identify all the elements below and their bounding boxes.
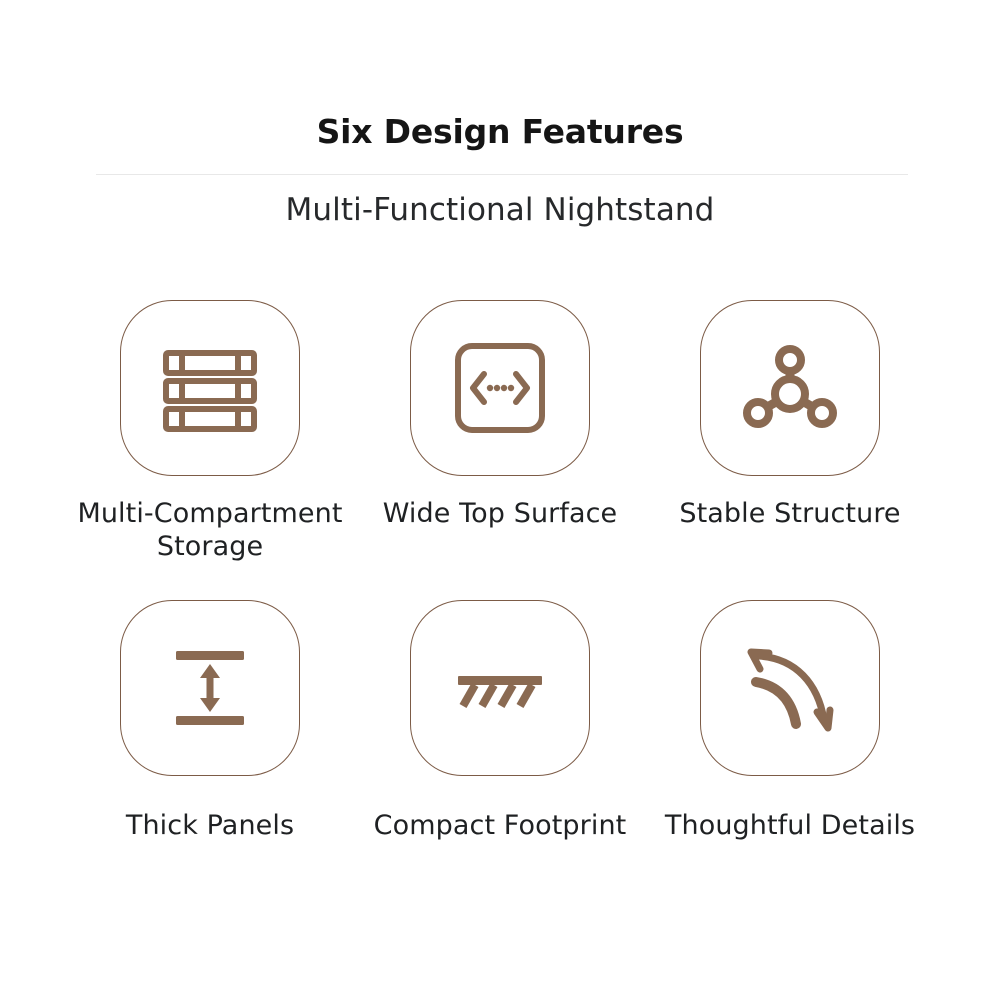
title-divider xyxy=(96,174,908,175)
feature-stable-structure: Stable Structure xyxy=(645,300,935,564)
feature-icon-card xyxy=(700,600,880,776)
feature-label: Multi-Compartment Storage xyxy=(60,498,360,564)
feature-thick-panels: Thick Panels xyxy=(65,600,355,843)
infographic-page: Six Design Features Multi-Functional Nig… xyxy=(0,0,1000,1000)
feature-icon-card xyxy=(700,300,880,476)
feature-label: Stable Structure xyxy=(640,498,940,531)
feature-thoughtful-details: Thoughtful Details xyxy=(645,600,935,843)
features-row-1: Multi-Compartment Storage xyxy=(0,300,1000,564)
feature-hatched-ground: Compact Footprint xyxy=(355,600,645,843)
feature-icon-card xyxy=(120,300,300,476)
feature-label: Thick Panels xyxy=(60,810,360,843)
stacked-compartments-icon xyxy=(158,336,262,440)
page-title: Six Design Features xyxy=(0,112,1000,151)
feature-icon-card xyxy=(120,600,300,776)
width-arrows-icon xyxy=(448,336,552,440)
curved-arrows-icon xyxy=(738,636,842,740)
hatched-ground-icon xyxy=(448,636,552,740)
page-subtitle: Multi-Functional Nightstand xyxy=(0,192,1000,228)
features-row-2: Thick Panels xyxy=(0,600,1000,843)
feature-multi-compartment-storage: Multi-Compartment Storage xyxy=(65,300,355,564)
thickness-arrow-icon xyxy=(158,636,262,740)
feature-icon-card xyxy=(410,600,590,776)
feature-wide-top-surface: Wide Top Surface xyxy=(355,300,645,564)
feature-label: Thoughtful Details xyxy=(640,810,940,843)
feature-label: Wide Top Surface xyxy=(350,498,650,531)
header: Six Design Features Multi-Functional Nig… xyxy=(0,0,1000,280)
feature-icon-card xyxy=(410,300,590,476)
molecule-nodes-icon xyxy=(738,336,842,440)
feature-label: Compact Footprint xyxy=(350,810,650,843)
